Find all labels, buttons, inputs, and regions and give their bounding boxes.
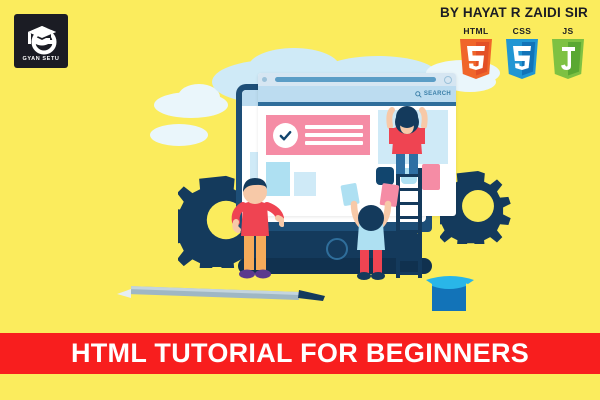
person-left-pointing: [228, 176, 284, 284]
card-line-1: [305, 125, 363, 129]
card-line-3: [305, 141, 363, 145]
pencil-icon: [113, 285, 331, 301]
hero-illustration: SEARCH: [0, 0, 600, 333]
browser-chrome-bar: [258, 73, 456, 86]
paint-bucket-icon: [424, 268, 476, 314]
card-text-lines: [305, 125, 363, 145]
chrome-menu-icon[interactable]: [262, 77, 267, 82]
search-icon: [415, 91, 422, 98]
person-on-ladder: [378, 104, 438, 178]
title-banner: HTML TUTORIAL FOR BEGINNERS: [0, 333, 600, 374]
poster-canvas: GYAN SETU BY HAYAT R ZAIDI SIR HTML CSS: [0, 0, 600, 400]
checkmark-icon: [278, 128, 293, 143]
person-center-holding-cards: [334, 182, 408, 280]
browser-address-bar[interactable]: [275, 77, 436, 82]
ladder-rail-right: [418, 168, 422, 278]
checklist-card: [266, 115, 370, 155]
chrome-account-icon[interactable]: [444, 76, 452, 84]
content-block-2: [294, 172, 316, 196]
check-circle: [273, 123, 298, 148]
search-label: SEARCH: [424, 91, 451, 97]
card-line-2: [305, 133, 363, 137]
search-control[interactable]: SEARCH: [415, 91, 451, 98]
banner-title-text: HTML TUTORIAL FOR BEGINNERS: [71, 338, 529, 369]
browser-search-row[interactable]: SEARCH: [258, 86, 456, 102]
